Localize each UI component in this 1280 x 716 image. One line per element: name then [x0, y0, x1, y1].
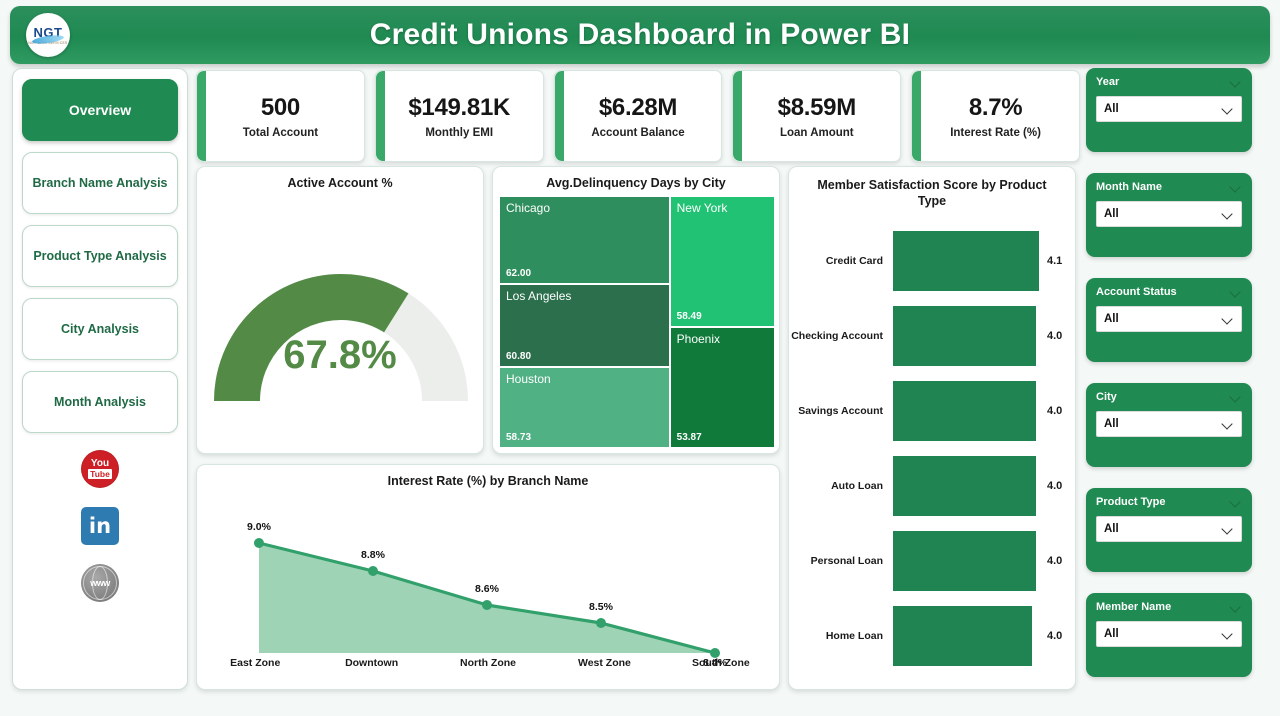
bar-category-label: Savings Account [789, 405, 893, 417]
slicer-dropdown[interactable]: All [1096, 516, 1242, 542]
slicer-header: City [1096, 391, 1242, 403]
bar-fill [893, 456, 1036, 516]
kpi-label: Monthly EMI [425, 127, 493, 139]
data-point[interactable] [368, 566, 378, 576]
bar-fill [893, 531, 1036, 591]
slicer-month-name[interactable]: Month Name All [1086, 173, 1252, 257]
slicer-label: Product Type [1096, 496, 1165, 508]
x-axis-tick: West Zone [546, 657, 662, 669]
kpi-label: Total Account [243, 127, 318, 139]
chevron-down-icon [1222, 523, 1234, 535]
sidebar-item-label: Branch Name Analysis [32, 176, 167, 190]
bar-track [893, 606, 1039, 666]
slicer-label: Member Name [1096, 601, 1171, 613]
kpi-value: 500 [261, 94, 300, 122]
bar-category-label: Auto Loan [789, 480, 893, 492]
bar-row[interactable]: Credit Card 4.1 [789, 231, 1075, 291]
kpi-card-loan-amount[interactable]: $8.59M Loan Amount [732, 70, 901, 162]
bar-track [893, 531, 1039, 591]
slicer-value: All [1104, 313, 1119, 325]
bar-value-label: 4.0 [1039, 330, 1075, 342]
treemap-column-left: Chicago 62.00 Los Angeles 60.80 Houston … [500, 197, 669, 447]
slicer-member-name[interactable]: Member Name All [1086, 593, 1252, 677]
kpi-card-account-balance[interactable]: $6.28M Account Balance [554, 70, 723, 162]
youtube-icon[interactable]: You Tube [81, 450, 119, 488]
treemap-cell-label: Phoenix [677, 332, 720, 346]
sidebar-item-label: City Analysis [61, 322, 139, 336]
slicer-header: Month Name [1096, 181, 1242, 193]
slicer-value: All [1104, 208, 1119, 220]
slicer-product-type[interactable]: Product Type All [1086, 488, 1252, 572]
treemap-cell-label: Houston [506, 372, 551, 386]
bar-fill [893, 306, 1036, 366]
chevron-down-icon [1222, 313, 1234, 325]
x-axis-tick: East Zone [197, 657, 313, 669]
data-point[interactable] [482, 600, 492, 610]
slicer-dropdown[interactable]: All [1096, 306, 1242, 332]
bar-track [893, 231, 1039, 291]
linkedin-glyph: in [89, 514, 111, 538]
gauge-svg [197, 191, 485, 429]
page-title: Credit Unions Dashboard in Power BI [10, 18, 1270, 52]
youtube-line1: You [91, 459, 109, 468]
slicer-value: All [1104, 628, 1119, 640]
sidebar-item-month-analysis[interactable]: Month Analysis [22, 371, 178, 433]
treemap-cell-value: 62.00 [506, 268, 531, 279]
social-links: You Tube in www [81, 450, 119, 602]
treemap-cell-houston[interactable]: Houston 58.73 [500, 368, 669, 447]
treemap-cell-los-angeles[interactable]: Los Angeles 60.80 [500, 285, 669, 366]
slicer-city[interactable]: City All [1086, 383, 1252, 467]
kpi-value: $8.59M [778, 94, 856, 122]
data-point[interactable] [596, 618, 606, 628]
chevron-down-icon [1230, 181, 1242, 193]
chevron-down-icon [1230, 286, 1242, 298]
bar-track [893, 381, 1039, 441]
kpi-value: $149.81K [408, 94, 510, 122]
kpi-label: Loan Amount [780, 127, 854, 139]
treemap-title: Avg.Delinquency Days by City [493, 167, 779, 191]
bar-track [893, 306, 1039, 366]
bar-row[interactable]: Checking Account 4.0 [789, 306, 1075, 366]
treemap-cell-value: 58.73 [506, 432, 531, 443]
treemap-cell-value: 53.87 [677, 432, 702, 443]
bar-fill [893, 231, 1039, 291]
treemap-cell-value: 58.49 [677, 311, 702, 322]
sidebar-item-label: Overview [69, 102, 131, 118]
bar-row[interactable]: Home Loan 4.0 [789, 606, 1075, 666]
slicer-header: Product Type [1096, 496, 1242, 508]
slicer-dropdown[interactable]: All [1096, 621, 1242, 647]
slicer-account-status[interactable]: Account Status All [1086, 278, 1252, 362]
sidebar-item-product-type-analysis[interactable]: Product Type Analysis [22, 225, 178, 287]
kpi-value: 8.7% [969, 94, 1023, 122]
dashboard-page: NGT NGT DATA SERVICES Credit Unions Dash… [0, 0, 1280, 716]
kpi-value: $6.28M [599, 94, 677, 122]
slicer-label: Account Status [1096, 286, 1177, 298]
slicer-value: All [1104, 418, 1119, 430]
slicer-label: City [1096, 391, 1117, 403]
chevron-down-icon [1230, 76, 1242, 88]
ngt-logo: NGT NGT DATA SERVICES [26, 13, 70, 57]
x-axis-tick: South Zone [663, 657, 779, 669]
treemap-cell-label: Chicago [506, 201, 550, 215]
kpi-label: Interest Rate (%) [950, 127, 1041, 139]
treemap-cell-new-york[interactable]: New York 58.49 [671, 197, 774, 326]
chevron-down-icon [1222, 103, 1234, 115]
youtube-line2: Tube [88, 469, 112, 479]
sidebar: Overview Branch Name Analysis Product Ty… [12, 68, 188, 690]
slicer-year[interactable]: Year All [1086, 68, 1252, 152]
bar-category-label: Personal Loan [789, 555, 893, 567]
sidebar-item-overview[interactable]: Overview [22, 79, 178, 141]
bar-value-label: 4.1 [1039, 255, 1075, 267]
bar-value-label: 4.0 [1039, 630, 1075, 642]
chevron-down-icon [1222, 418, 1234, 430]
sidebar-item-city-analysis[interactable]: City Analysis [22, 298, 178, 360]
website-glyph: www [90, 578, 110, 588]
gauge-chart: 67.8% [197, 191, 483, 429]
bar-fill [893, 381, 1036, 441]
bar-value-label: 4.0 [1039, 555, 1075, 567]
website-icon[interactable]: www [81, 564, 119, 602]
kpi-card-interest-rate[interactable]: 8.7% Interest Rate (%) [911, 70, 1080, 162]
kpi-card-monthly-emi[interactable]: $149.81K Monthly EMI [375, 70, 544, 162]
chevron-down-icon [1222, 208, 1234, 220]
slicer-dropdown[interactable]: All [1096, 201, 1242, 227]
slicer-value: All [1104, 103, 1119, 115]
slicer-label: Month Name [1096, 181, 1162, 193]
treemap-cell-value: 60.80 [506, 351, 531, 362]
gauge-chart-title: Active Account % [197, 167, 483, 191]
treemap-cell-label: Los Angeles [506, 289, 571, 303]
data-point-label: 8.6% [475, 583, 499, 595]
treemap: Chicago 62.00 Los Angeles 60.80 Houston … [500, 197, 774, 447]
area-chart-title: Interest Rate (%) by Branch Name [197, 465, 779, 489]
data-point[interactable] [254, 538, 264, 548]
slicer-value: All [1104, 523, 1119, 535]
data-point-label: 8.8% [361, 549, 385, 561]
linkedin-icon[interactable]: in [81, 507, 119, 545]
interest-rate-area-card[interactable]: Interest Rate (%) by Branch Name 9.0% 8.… [196, 464, 780, 690]
bar-fill [893, 606, 1032, 666]
chevron-down-icon [1230, 601, 1242, 613]
treemap-card[interactable]: Avg.Delinquency Days by City Chicago 62.… [492, 166, 780, 454]
bar-value-label: 4.0 [1039, 405, 1075, 417]
data-point-label: 9.0% [247, 521, 271, 533]
bar-track [893, 456, 1039, 516]
slicer-header: Member Name [1096, 601, 1242, 613]
kpi-row: 500 Total Account $149.81K Monthly EMI $… [196, 70, 1080, 162]
bar-row[interactable]: Auto Loan 4.0 [789, 456, 1075, 516]
data-point-label: 8.5% [589, 601, 613, 613]
sidebar-item-label: Month Analysis [54, 395, 146, 409]
bar-row[interactable]: Personal Loan 4.0 [789, 531, 1075, 591]
x-axis-tick: North Zone [430, 657, 546, 669]
kpi-label: Account Balance [591, 127, 684, 139]
treemap-cell-chicago[interactable]: Chicago 62.00 [500, 197, 669, 283]
slicer-panel: Year All Month Name All Account Status [1086, 68, 1268, 690]
slicer-dropdown[interactable]: All [1096, 411, 1242, 437]
satisfaction-bar-title: Member Satisfaction Score by Product Typ… [789, 167, 1075, 209]
treemap-column-right: New York 58.49 Phoenix 53.87 [671, 197, 774, 447]
chevron-down-icon [1222, 628, 1234, 640]
bar-category-label: Home Loan [789, 630, 893, 642]
chevron-down-icon [1230, 496, 1242, 508]
kpi-card-total-account[interactable]: 500 Total Account [196, 70, 365, 162]
area-svg [197, 489, 781, 675]
sidebar-item-label: Product Type Analysis [33, 249, 166, 263]
x-axis-tick: Downtown [313, 657, 429, 669]
dashboard-header: NGT NGT DATA SERVICES Credit Unions Dash… [10, 6, 1270, 64]
bar-category-label: Credit Card [789, 255, 893, 267]
satisfaction-bar-card[interactable]: Member Satisfaction Score by Product Typ… [788, 166, 1076, 690]
bar-category-label: Checking Account [789, 330, 893, 342]
sidebar-item-branch-name-analysis[interactable]: Branch Name Analysis [22, 152, 178, 214]
gauge-value-label: 67.8% [197, 333, 483, 378]
slicer-label: Year [1096, 76, 1119, 88]
bar-value-label: 4.0 [1039, 480, 1075, 492]
area-x-axis: East Zone Downtown North Zone West Zone … [197, 657, 779, 669]
slicer-header: Year [1096, 76, 1242, 88]
chevron-down-icon [1230, 391, 1242, 403]
area-chart: 9.0% 8.8% 8.6% 8.5% 8.4% East Zone Downt… [197, 489, 779, 675]
bar-row[interactable]: Savings Account 4.0 [789, 381, 1075, 441]
slicer-dropdown[interactable]: All [1096, 96, 1242, 122]
treemap-cell-label: New York [677, 201, 728, 215]
gauge-chart-card[interactable]: Active Account % 67.8% [196, 166, 484, 454]
treemap-cell-phoenix[interactable]: Phoenix 53.87 [671, 328, 774, 447]
slicer-header: Account Status [1096, 286, 1242, 298]
satisfaction-bar-chart: Credit Card 4.1 Checking Account 4.0 Sav… [789, 223, 1075, 673]
